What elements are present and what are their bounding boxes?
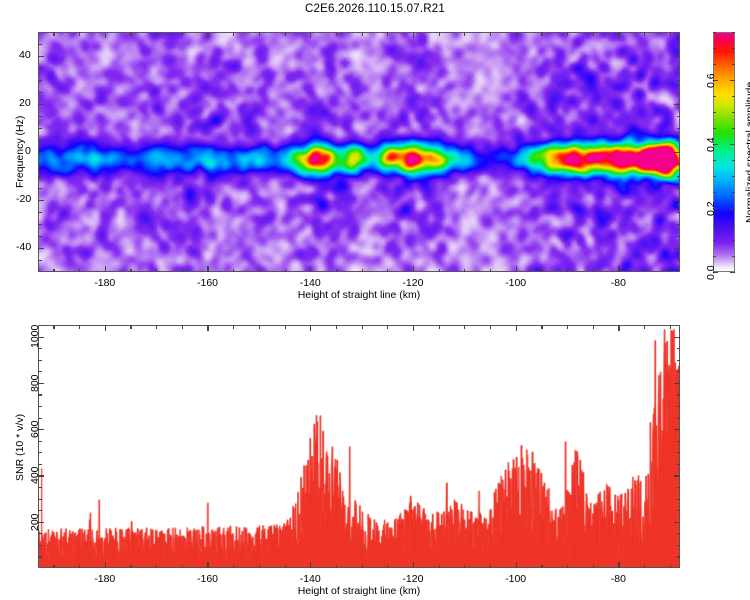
axis-tick	[259, 32, 260, 36]
axis-tick	[490, 325, 491, 329]
axis-tick	[670, 565, 671, 569]
axis-tick	[677, 545, 681, 546]
axis-tick	[387, 565, 388, 569]
axis-tick	[38, 176, 42, 177]
axis-tick	[259, 269, 260, 273]
axis-tick	[38, 545, 42, 546]
axis-tick	[310, 266, 311, 272]
axis-tick	[644, 325, 645, 329]
axis-tick	[490, 32, 491, 36]
axis-tick	[677, 533, 681, 534]
axis-tick	[53, 565, 54, 569]
axis-tick	[674, 475, 680, 476]
axis-tick	[105, 325, 106, 331]
axis-tick	[541, 32, 542, 36]
axis-tick	[233, 325, 234, 329]
axis-tick	[730, 272, 735, 273]
axis-tick	[79, 565, 80, 569]
axis-tick	[713, 176, 716, 177]
axis-tick	[38, 452, 42, 453]
axis-tick	[38, 44, 42, 45]
axis-tick	[310, 562, 311, 568]
colorbar-tick-label: 0.2	[705, 201, 717, 216]
axis-tick	[38, 212, 42, 213]
axis-tick	[38, 441, 42, 442]
axis-tick	[130, 565, 131, 569]
axis-tick-label: 40	[19, 49, 31, 61]
axis-tick	[79, 32, 80, 36]
spectrogram-xlabel: Height of straight line (km)	[298, 289, 421, 301]
axis-tick	[362, 325, 363, 329]
axis-tick	[38, 371, 42, 372]
axis-tick	[38, 418, 42, 419]
axis-tick	[38, 164, 42, 165]
axis-tick	[713, 64, 716, 65]
axis-tick	[130, 325, 131, 329]
axis-tick	[79, 325, 80, 329]
axis-tick	[677, 360, 681, 361]
axis-tick	[336, 565, 337, 569]
axis-tick	[732, 32, 735, 33]
axis-tick	[105, 562, 106, 568]
axis-tick	[38, 533, 42, 534]
axis-tick	[156, 325, 157, 329]
axis-tick	[674, 200, 680, 201]
axis-tick	[677, 236, 681, 237]
axis-tick	[182, 32, 183, 36]
axis-tick	[730, 80, 735, 81]
axis-tick	[732, 160, 735, 161]
spectrogram-canvas	[39, 33, 679, 271]
axis-tick	[38, 128, 42, 129]
axis-tick	[38, 499, 42, 500]
axis-tick	[730, 144, 735, 145]
axis-tick	[362, 565, 363, 569]
axis-tick	[413, 266, 414, 272]
axis-tick	[336, 325, 337, 329]
axis-tick	[285, 325, 286, 329]
axis-tick	[38, 556, 42, 557]
axis-tick	[593, 325, 594, 329]
axis-tick	[38, 140, 42, 141]
axis-tick	[677, 394, 681, 395]
axis-tick	[732, 240, 735, 241]
axis-tick	[156, 269, 157, 273]
axis-tick	[310, 325, 311, 331]
axis-tick	[644, 32, 645, 36]
axis-tick	[732, 224, 735, 225]
axis-tick	[439, 32, 440, 36]
axis-tick	[464, 325, 465, 329]
axis-tick	[593, 32, 594, 36]
axis-tick	[677, 556, 681, 557]
axis-tick	[713, 48, 716, 49]
axis-tick-label: -160	[197, 277, 218, 289]
axis-tick	[732, 192, 735, 193]
axis-tick	[732, 256, 735, 257]
axis-tick	[38, 152, 44, 153]
axis-tick	[233, 32, 234, 36]
axis-tick	[677, 140, 681, 141]
axis-tick	[713, 112, 716, 113]
axis-tick	[182, 269, 183, 273]
axis-tick	[413, 562, 414, 568]
axis-tick	[38, 236, 42, 237]
axis-tick	[674, 104, 680, 105]
axis-tick	[38, 56, 44, 57]
axis-tick-label: 400	[29, 467, 41, 485]
axis-tick	[413, 325, 414, 331]
axis-tick	[677, 371, 681, 372]
axis-tick	[285, 565, 286, 569]
axis-tick	[207, 325, 208, 331]
axis-tick	[38, 116, 42, 117]
axis-tick-label: 20	[19, 97, 31, 109]
axis-tick-label: -180	[94, 277, 115, 289]
axis-tick	[677, 487, 681, 488]
axis-tick	[732, 96, 735, 97]
axis-tick	[490, 565, 491, 569]
axis-tick	[644, 565, 645, 569]
axis-tick	[413, 32, 414, 38]
axis-tick	[713, 160, 716, 161]
axis-tick	[207, 266, 208, 272]
axis-tick	[310, 32, 311, 38]
colorbar-gradient	[713, 32, 735, 272]
axis-tick	[541, 269, 542, 273]
axis-tick	[674, 152, 680, 153]
axis-tick	[618, 325, 619, 331]
axis-tick	[593, 269, 594, 273]
axis-tick	[670, 32, 671, 36]
axis-tick	[732, 64, 735, 65]
axis-tick	[677, 406, 681, 407]
axis-tick	[670, 325, 671, 329]
axis-tick	[285, 32, 286, 36]
axis-tick	[38, 200, 44, 201]
axis-tick	[674, 248, 680, 249]
spectrogram-panel	[38, 32, 680, 272]
snr-xlabel: Height of straight line (km)	[298, 585, 421, 597]
axis-tick-label: 600	[29, 421, 41, 439]
axis-tick	[677, 452, 681, 453]
axis-tick	[207, 562, 208, 568]
axis-tick-label: 200	[29, 513, 41, 531]
axis-tick	[713, 32, 716, 33]
axis-tick	[233, 269, 234, 273]
axis-tick	[439, 565, 440, 569]
axis-tick	[130, 269, 131, 273]
axis-tick	[674, 522, 680, 523]
axis-tick	[677, 116, 681, 117]
axis-tick-label: -80	[611, 573, 626, 585]
axis-tick	[677, 260, 681, 261]
axis-tick	[259, 325, 260, 329]
axis-tick	[464, 32, 465, 36]
axis-tick	[464, 269, 465, 273]
axis-tick	[38, 224, 42, 225]
axis-tick	[677, 128, 681, 129]
axis-tick	[677, 44, 681, 45]
axis-tick	[53, 32, 54, 36]
axis-tick	[618, 266, 619, 272]
colorbar-tick-label: 0.4	[705, 137, 717, 152]
axis-tick	[387, 32, 388, 36]
axis-tick	[105, 266, 106, 272]
axis-tick	[677, 68, 681, 69]
axis-tick-label: -140	[300, 277, 321, 289]
axis-tick	[567, 269, 568, 273]
axis-tick	[387, 325, 388, 329]
axis-tick	[732, 112, 735, 113]
axis-tick	[38, 348, 42, 349]
spectrogram-ylabel: Frequency (Hz)	[14, 116, 26, 188]
axis-tick-label: -160	[197, 573, 218, 585]
axis-tick	[38, 104, 44, 105]
axis-tick-label: 800	[29, 374, 41, 392]
axis-tick	[38, 260, 42, 261]
colorbar-label: Normalized spectral amplitude	[744, 81, 750, 222]
axis-tick	[713, 96, 716, 97]
axis-tick-label: -120	[402, 277, 423, 289]
axis-tick-label: -120	[402, 573, 423, 585]
axis-tick	[259, 565, 260, 569]
axis-tick	[677, 510, 681, 511]
figure-root: C2E6.2026.110.15.07.R21 -180-160-140-120…	[0, 0, 750, 600]
axis-tick	[677, 348, 681, 349]
axis-tick	[567, 325, 568, 329]
axis-tick-label: -100	[505, 277, 526, 289]
axis-tick	[464, 565, 465, 569]
axis-tick	[38, 510, 42, 511]
axis-tick	[713, 256, 716, 257]
axis-tick	[677, 499, 681, 500]
axis-tick	[618, 32, 619, 38]
axis-tick	[674, 337, 680, 338]
axis-tick	[677, 188, 681, 189]
axis-tick	[674, 429, 680, 430]
axis-tick-label: -140	[300, 573, 321, 585]
axis-tick	[439, 269, 440, 273]
axis-tick	[541, 325, 542, 329]
axis-tick	[105, 32, 106, 38]
colorbar-tick-label: 0.6	[705, 73, 717, 88]
axis-tick	[677, 464, 681, 465]
axis-tick	[207, 32, 208, 38]
axis-tick	[38, 248, 44, 249]
axis-tick	[677, 212, 681, 213]
axis-tick	[156, 32, 157, 36]
axis-tick	[677, 224, 681, 225]
axis-tick-label: -20	[16, 193, 31, 205]
axis-tick	[38, 92, 42, 93]
axis-tick	[53, 269, 54, 273]
axis-tick	[38, 487, 42, 488]
axis-tick	[567, 565, 568, 569]
axis-tick	[38, 188, 42, 189]
axis-tick	[677, 92, 681, 93]
axis-tick	[516, 562, 517, 568]
axis-tick	[53, 325, 54, 329]
axis-tick-label: -180	[94, 573, 115, 585]
axis-tick	[38, 68, 42, 69]
axis-tick	[677, 176, 681, 177]
axis-tick	[677, 441, 681, 442]
axis-tick	[730, 208, 735, 209]
axis-tick	[713, 128, 716, 129]
axis-tick	[38, 406, 42, 407]
axis-tick	[674, 383, 680, 384]
axis-tick	[516, 32, 517, 38]
axis-tick	[362, 32, 363, 36]
axis-tick	[618, 562, 619, 568]
axis-tick	[233, 565, 234, 569]
axis-tick	[593, 565, 594, 569]
axis-tick	[79, 269, 80, 273]
axis-tick	[387, 269, 388, 273]
colorbar-tick-label: 0.0	[705, 265, 717, 280]
axis-tick-label: 1000	[29, 325, 41, 348]
axis-tick-label: -100	[505, 573, 526, 585]
axis-tick	[567, 32, 568, 36]
axis-tick	[38, 360, 42, 361]
axis-tick	[516, 266, 517, 272]
axis-tick	[677, 80, 681, 81]
axis-tick	[713, 192, 716, 193]
axis-tick-label: -80	[611, 277, 626, 289]
axis-tick	[732, 176, 735, 177]
axis-tick	[677, 164, 681, 165]
axis-tick	[362, 269, 363, 273]
axis-tick	[38, 80, 42, 81]
axis-tick	[670, 269, 671, 273]
axis-tick	[285, 269, 286, 273]
figure-title: C2E6.2026.110.15.07.R21	[0, 3, 750, 15]
axis-tick	[732, 48, 735, 49]
axis-tick	[644, 269, 645, 273]
snr-canvas	[39, 326, 679, 567]
axis-tick	[713, 224, 716, 225]
axis-tick	[541, 565, 542, 569]
axis-tick	[336, 32, 337, 36]
axis-tick	[130, 32, 131, 36]
axis-tick	[674, 56, 680, 57]
axis-tick	[38, 464, 42, 465]
axis-tick	[439, 325, 440, 329]
axis-tick	[490, 269, 491, 273]
axis-tick	[677, 418, 681, 419]
axis-tick	[516, 325, 517, 331]
axis-tick-label: -40	[16, 241, 31, 253]
axis-tick	[38, 394, 42, 395]
axis-tick	[336, 269, 337, 273]
axis-tick	[156, 565, 157, 569]
axis-tick	[182, 565, 183, 569]
snr-ylabel: SNR (10 * v/v)	[14, 413, 26, 480]
snr-panel	[38, 325, 680, 568]
axis-tick	[182, 325, 183, 329]
axis-tick	[732, 128, 735, 129]
axis-tick	[713, 240, 716, 241]
